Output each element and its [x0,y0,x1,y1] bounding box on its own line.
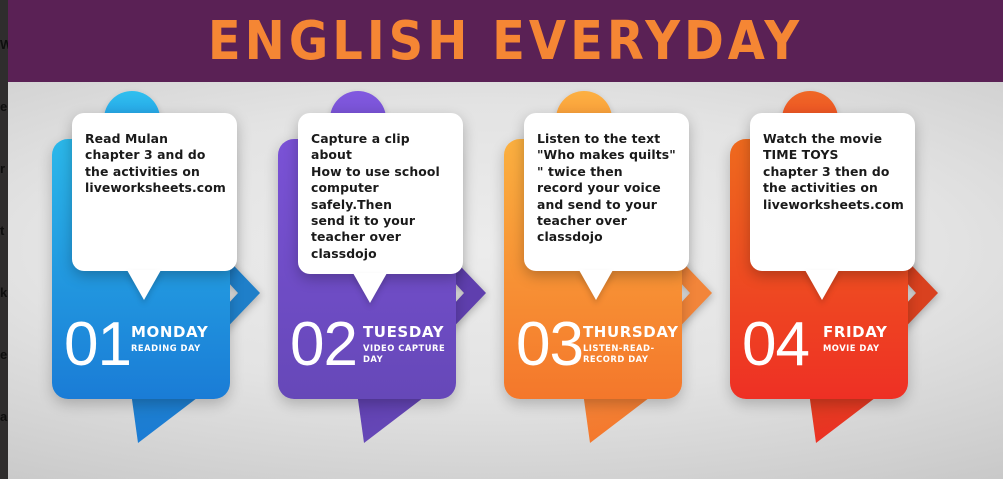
card-label-row: 04FRIDAYMOVIE DAY [742,317,887,373]
task-text: Capture a clip about How to use school c… [311,131,451,262]
day-card-02[interactable]: Capture a clip about How to use school c… [278,139,456,399]
task-text: Listen to the text "Who makes quilts" " … [537,131,677,246]
card-label-row: 03THURSDAYLISTEN-READ-RECORD DAY [516,317,681,373]
task-bubble: Listen to the text "Who makes quilts" " … [524,113,689,271]
cards-area: Read Mulan chapter 3 and do the activiti… [8,82,1003,479]
task-bubble: Capture a clip about How to use school c… [298,113,463,274]
card-day-name: THURSDAY [583,324,681,340]
card-day-name: FRIDAY [823,324,887,340]
ghost-letter: a [0,410,7,423]
card-label-row: 02TUESDAYVIDEO CAPTURE DAY [290,317,456,373]
card-number: 02 [290,317,357,373]
card-day-labels: THURSDAYLISTEN-READ-RECORD DAY [583,324,681,364]
card-day-subtitle: LISTEN-READ-RECORD DAY [583,343,681,364]
ghost-letter: e [0,348,7,361]
card-day-labels: MONDAYREADING DAY [131,324,208,354]
card-number: 04 [742,317,809,373]
day-card-01[interactable]: Read Mulan chapter 3 and do the activiti… [52,139,230,399]
card-label-row: 01MONDAYREADING DAY [64,317,208,373]
card-day-labels: FRIDAYMOVIE DAY [823,324,887,354]
infographic-canvas: Wertkea ENGLISH EVERYDAY Read Mulan chap… [0,0,1003,479]
left-edge-ghost-text: Wertkea [0,0,8,479]
card-day-subtitle: READING DAY [131,343,208,354]
card-day-name: MONDAY [131,324,208,340]
day-card-03[interactable]: Listen to the text "Who makes quilts" " … [504,139,682,399]
card-number: 01 [64,317,131,373]
ghost-letter: W [0,38,8,51]
card-day-subtitle: VIDEO CAPTURE DAY [363,343,456,364]
header-banner: ENGLISH EVERYDAY [8,0,1003,82]
task-bubble: Read Mulan chapter 3 and do the activiti… [72,113,237,271]
bubble-tail [127,270,161,300]
task-bubble: Watch the movie TIME TOYS chapter 3 then… [750,113,915,271]
card-number: 03 [516,317,583,373]
bubble-tail [579,270,613,300]
task-text: Watch the movie TIME TOYS chapter 3 then… [763,131,903,213]
card-day-name: TUESDAY [363,324,456,340]
ghost-letter: r [0,162,5,175]
ghost-letter: t [0,224,4,237]
ghost-letter: k [0,286,7,299]
task-text: Read Mulan chapter 3 and do the activiti… [85,131,225,197]
ghost-letter: e [0,100,7,113]
day-card-04[interactable]: Watch the movie TIME TOYS chapter 3 then… [730,139,908,399]
card-day-labels: TUESDAYVIDEO CAPTURE DAY [363,324,456,364]
bubble-tail [353,273,387,303]
bubble-tail [805,270,839,300]
card-day-subtitle: MOVIE DAY [823,343,887,354]
page-title: ENGLISH EVERYDAY [208,10,803,73]
